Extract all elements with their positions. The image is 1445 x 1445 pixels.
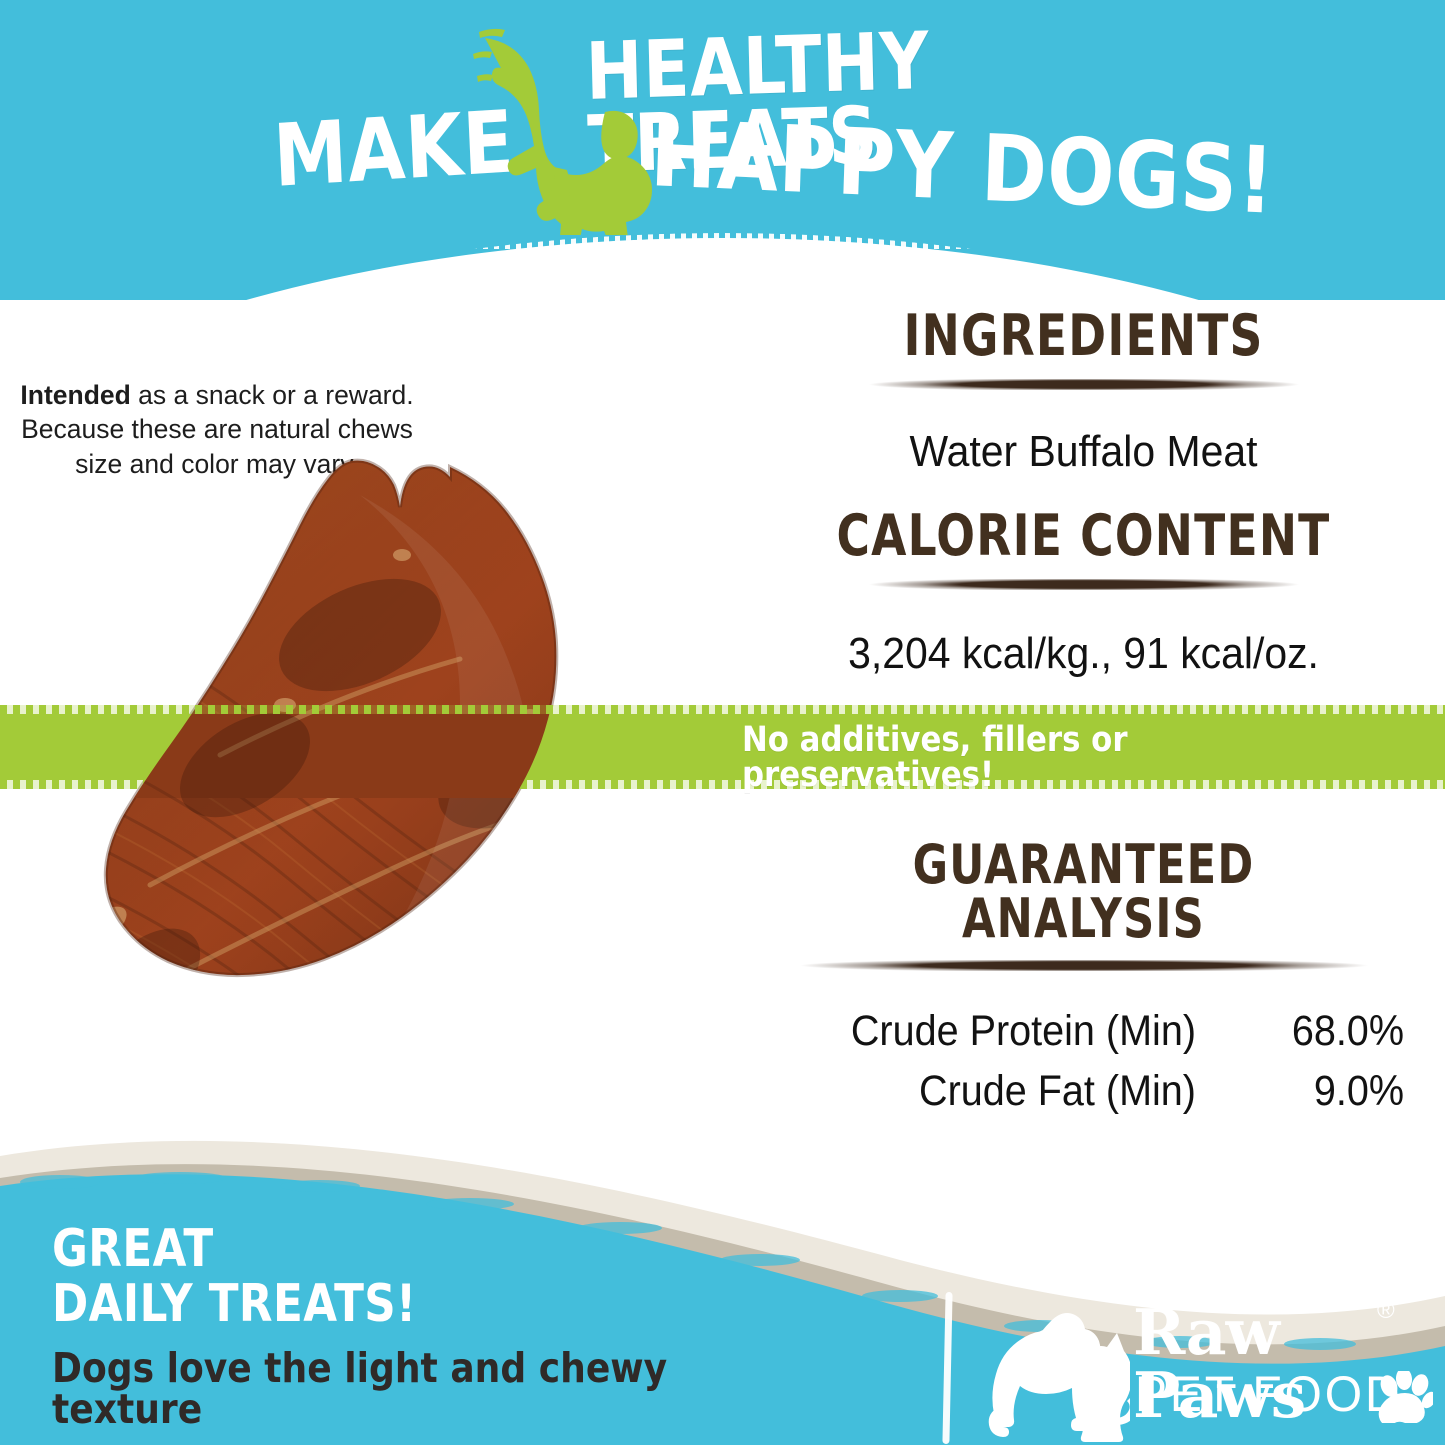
calorie-body: 3,204 kcal/kg., 91 kcal/oz. [747, 626, 1419, 681]
calorie-title: CALORIE CONTENT [794, 508, 1372, 565]
product-photo [30, 455, 730, 1175]
ga-value: 9.0% [1212, 1067, 1403, 1115]
footer-headline-line-2: DAILY TREATS! [52, 1277, 741, 1332]
footer-headline-line-1: GREAT [52, 1222, 741, 1277]
paw-print-icon [1377, 1371, 1433, 1423]
ingredients-divider [869, 379, 1299, 390]
ga-value: 68.0% [1212, 1007, 1403, 1055]
green-claim-text: No additives, fillers or preservatives! [742, 723, 1288, 793]
brand-logo: Raw Paws ® PET FOOD [985, 1295, 1425, 1445]
playful-dog-silhouette-icon [455, 20, 670, 235]
buffalo-jerky-illustration [30, 455, 730, 1175]
guaranteed-analysis-divider [800, 960, 1368, 971]
ga-label: Crude Fat (Min) [809, 1067, 1195, 1115]
ingredients-section: INGREDIENTS Water Buffalo Meat [722, 308, 1445, 479]
usage-note-lead: Intended [20, 380, 130, 410]
ingredients-title: INGREDIENTS [794, 308, 1372, 365]
footer-subtext: Dogs love the light and chewy texture [52, 1348, 774, 1430]
ingredients-body: Water Buffalo Meat [747, 424, 1419, 479]
calorie-divider [869, 579, 1299, 590]
logo-registered-mark: ® [1377, 1299, 1395, 1323]
product-infographic: HEALTHY TREATS MAKE HAPPY DOGS! Intended… [0, 0, 1445, 1445]
dog-and-cat-silhouette-icon [985, 1303, 1130, 1443]
table-row: Crude Protein (Min) 68.0% [764, 1007, 1404, 1055]
table-row: Crude Fat (Min) 9.0% [764, 1067, 1404, 1115]
footer-headline-block: GREAT DAILY TREATS! Dogs love the light … [52, 1222, 872, 1430]
calorie-section: CALORIE CONTENT 3,204 kcal/kg., 91 kcal/… [722, 508, 1445, 681]
guaranteed-analysis-title: GUARANTEED ANALYSIS [794, 838, 1372, 946]
ga-label: Crude Protein (Min) [809, 1007, 1195, 1055]
logo-tagline: PET FOOD [1135, 1369, 1403, 1419]
